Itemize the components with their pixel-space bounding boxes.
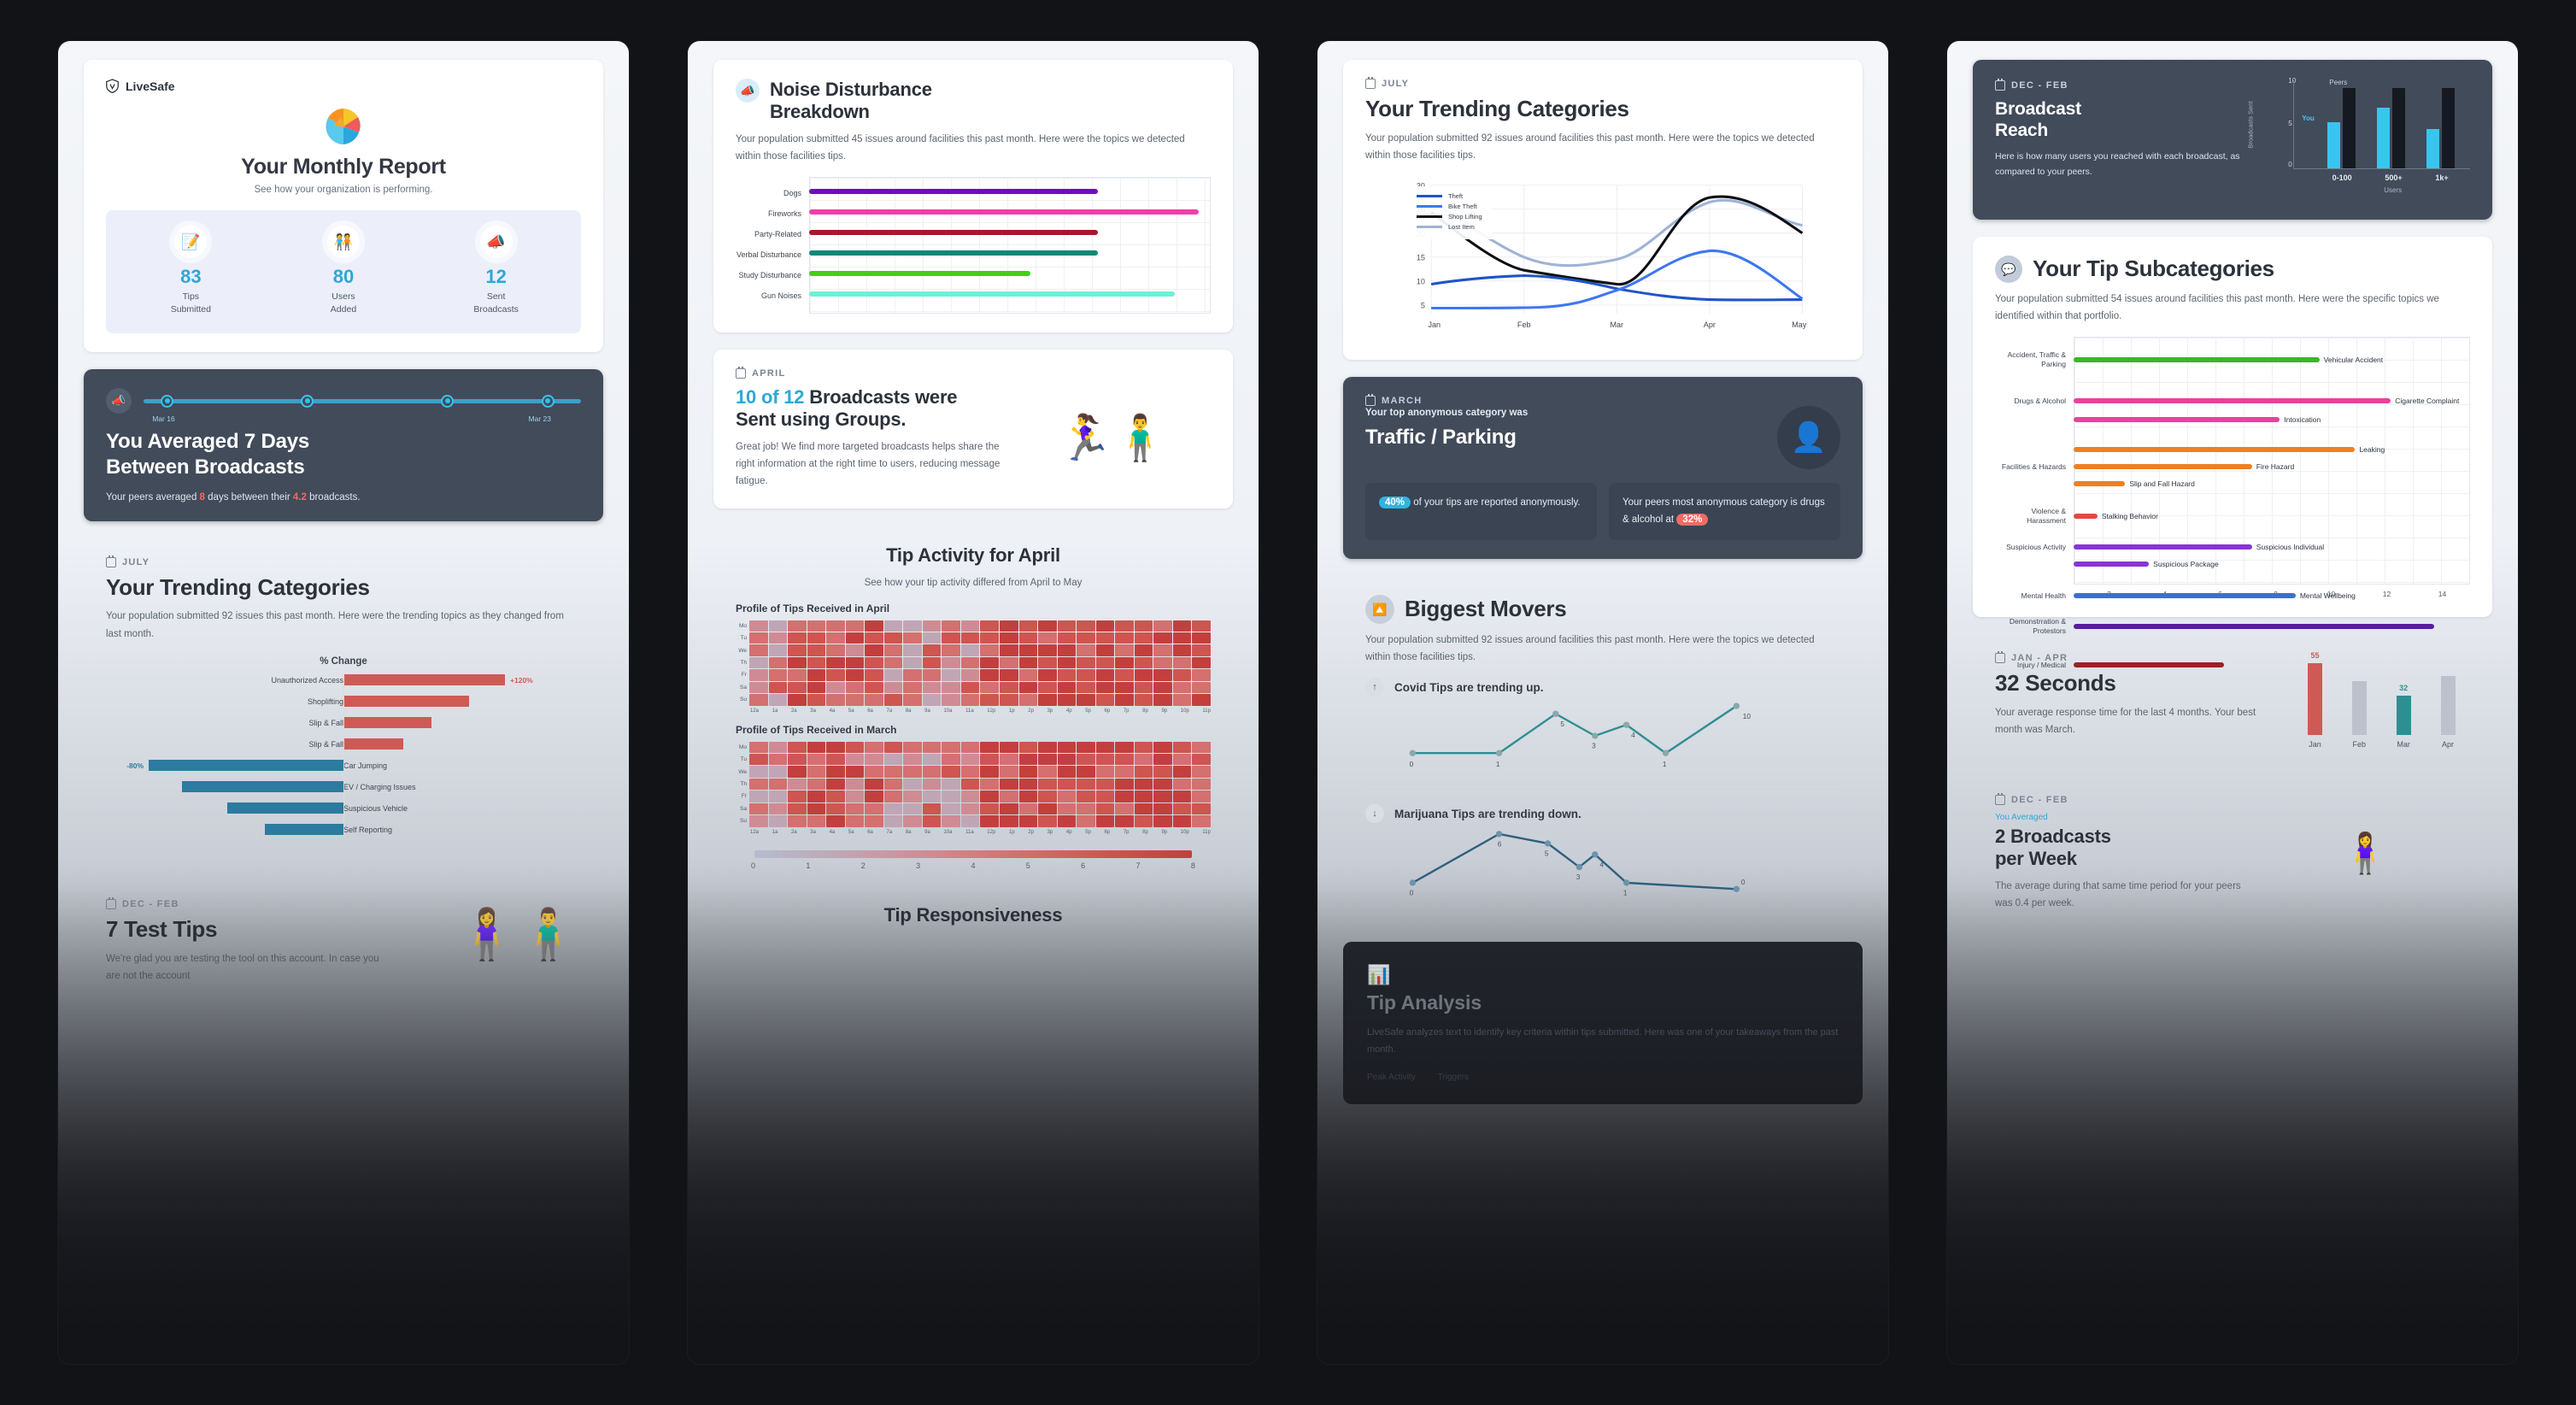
lane-label: Dogs xyxy=(736,189,809,199)
heatmap-cell xyxy=(826,779,845,790)
hour-label: 10p xyxy=(1181,830,1189,835)
bar-label: Slip & Fall xyxy=(308,740,343,749)
heatmap-cell xyxy=(884,803,903,814)
hour-label: 12a xyxy=(750,830,759,835)
trending-title: Your Trending Categories xyxy=(106,575,581,601)
calendar-icon xyxy=(736,368,746,379)
point-label: 0 xyxy=(1410,890,1414,897)
heatmap-cell xyxy=(769,754,788,765)
bar-label: Slip & Fall xyxy=(308,719,343,727)
subcategories-chart: Accident, Traffic & Parking Vehicular Ac… xyxy=(1995,337,2470,585)
heatmap-cell xyxy=(865,644,883,655)
trending-description: Your population submitted 92 issues arou… xyxy=(1365,130,1840,164)
heatmap-cell xyxy=(1153,754,1172,765)
groups-highlight: 10 of 12 xyxy=(736,386,804,408)
heatmap-cell xyxy=(769,766,788,777)
heatmap-cell xyxy=(1153,620,1172,632)
heatmap-cell xyxy=(884,694,903,705)
mover-up-label: Covid Tips are trending up. xyxy=(1394,681,1544,694)
heatmap-cell xyxy=(884,766,903,777)
heatmap-cell xyxy=(846,644,865,655)
hour-label: 7p xyxy=(1124,708,1130,714)
heatmap-cell xyxy=(788,791,807,802)
scale-tick: 8 xyxy=(1191,861,1195,870)
heatmap-cell xyxy=(769,694,788,705)
point-label: 3 xyxy=(1576,874,1581,882)
weekly-description: The average during that same time period… xyxy=(1995,878,2251,912)
heatmap-cell xyxy=(903,657,922,668)
group-label: Violence & Harassment xyxy=(1995,507,2074,526)
heatmap-cell xyxy=(788,754,807,765)
heatmap-cell xyxy=(826,620,845,632)
heatmap-cell xyxy=(1192,644,1211,655)
heatmap-cell xyxy=(1096,657,1115,668)
scale-tick: 3 xyxy=(916,861,920,870)
legend-label: Theft xyxy=(1448,192,1463,200)
heatmap-cell xyxy=(1058,779,1077,790)
heatmap-cell xyxy=(1000,742,1018,753)
point-label: 5 xyxy=(1560,720,1564,728)
heatmap-cell xyxy=(961,644,980,655)
heatmap-cell xyxy=(1192,766,1211,777)
heatmap-cell xyxy=(1038,803,1057,814)
heatmap-cell xyxy=(769,779,788,790)
heatmap-cell xyxy=(961,791,980,802)
heatmap-cell xyxy=(1153,803,1172,814)
bar-label: EV / Charging Issues xyxy=(343,783,416,791)
lane-label: Fireworks xyxy=(736,209,809,220)
legend-label: Lost Item xyxy=(1448,223,1475,231)
heatmap-cell xyxy=(826,791,845,802)
heatmap-cell xyxy=(1096,815,1115,826)
stat-label-1: Tips xyxy=(115,291,267,303)
heatmap-cell xyxy=(807,694,826,705)
heatmap-cell xyxy=(788,742,807,753)
heatmap-cell xyxy=(769,644,788,655)
report-column-2: 📣 Noise Disturbance Breakdown Your popul… xyxy=(688,41,1259,1364)
groups-headline-rest: Broadcasts were xyxy=(804,386,957,408)
heatmap-cell xyxy=(1173,682,1192,693)
heatmap-cell xyxy=(1038,742,1057,753)
heatmap-cell xyxy=(942,815,960,826)
hour-label: 10a xyxy=(943,708,952,714)
bar-label: Unauthorized Access xyxy=(271,676,343,685)
heatmap-cell xyxy=(749,791,768,802)
heatmap-cell xyxy=(807,803,826,814)
heatmap-cell xyxy=(980,815,999,826)
hour-label: 7a xyxy=(887,830,893,835)
hour-label: 2a xyxy=(791,830,797,835)
heatmap-cell xyxy=(788,682,807,693)
heatmap-cell xyxy=(1115,682,1134,693)
heatmap-cell xyxy=(1153,779,1172,790)
weekly-broadcast-card: DEC - FEB You Averaged 2 Broadcasts per … xyxy=(1973,776,2492,931)
heatmap-cell xyxy=(980,791,999,802)
heatmap-cell xyxy=(1058,620,1077,632)
heatmap-cell xyxy=(807,644,826,655)
svg-text:Apr: Apr xyxy=(1704,320,1716,329)
heatmap-cell xyxy=(1096,694,1115,705)
heatmap-cell xyxy=(846,803,865,814)
heatmap-cell xyxy=(903,694,922,705)
heatmap-cell xyxy=(1077,682,1095,693)
noise-breakdown-card: 📣 Noise Disturbance Breakdown Your popul… xyxy=(713,60,1233,332)
hour-label: 10a xyxy=(943,830,952,835)
broadcast-headline-1: You Averaged 7 Days xyxy=(106,430,309,453)
broadcast-reach-chart xyxy=(2293,80,2470,169)
xcat-label: 1k+ xyxy=(2435,173,2448,182)
updown-arrows-icon: 🔼 xyxy=(1365,595,1394,624)
heatmap-cell xyxy=(1038,791,1057,802)
heatmap-cell xyxy=(749,766,768,777)
heatmap-cell xyxy=(769,791,788,802)
heatmap-cell xyxy=(1000,791,1018,802)
reach-title-1: Broadcast xyxy=(1995,99,2081,119)
heatmap-cell xyxy=(903,632,922,644)
heatmap-color-scale xyxy=(754,850,1192,858)
heatmap-scale-ticks: 012345678 xyxy=(736,861,1211,870)
heatmap-cell xyxy=(807,682,826,693)
heatmap-cell xyxy=(884,754,903,765)
heatmap-cell xyxy=(1077,779,1095,790)
heatmap-cell xyxy=(769,742,788,753)
anonymous-category-card: MARCH Your top anonymous category was Tr… xyxy=(1343,377,1863,559)
people-phone-illustration: 🧍‍♀️🧍‍♂️ xyxy=(456,906,579,964)
hour-label: 5a xyxy=(848,708,854,714)
heatmap-cell xyxy=(923,779,942,790)
heatmap-day-labels: MoTu WeTh FrSa Su xyxy=(736,620,749,706)
group-label: Accident, Traffic & Parking xyxy=(1995,350,2074,370)
trending-eyebrow: JULY xyxy=(1382,79,1409,89)
stat-label-2: Added xyxy=(268,303,420,316)
heatmap-cell xyxy=(1058,742,1077,753)
heatmap-cell xyxy=(1019,632,1038,644)
scale-tick: 6 xyxy=(1081,861,1085,870)
heatmap-cell xyxy=(1173,742,1192,753)
subcats-description: Your population submitted 54 issues arou… xyxy=(1995,291,2470,325)
group-label: Suspicious Activity xyxy=(1995,543,2074,552)
heatmap-cell xyxy=(1038,669,1057,680)
heatmap-cell xyxy=(923,632,942,644)
heatmap-cell xyxy=(826,803,845,814)
analysis-title: Tip Analysis xyxy=(1367,991,1839,1014)
heatmap-cell xyxy=(1096,669,1115,680)
heatmap-cell xyxy=(980,742,999,753)
heatmap-cell xyxy=(1192,742,1211,753)
hour-label: 7a xyxy=(887,708,893,714)
heatmap-cell xyxy=(1038,766,1057,777)
bar-month: Feb xyxy=(2353,740,2367,749)
hour-label: 8p xyxy=(1142,708,1148,714)
megaphone-icon: 📣 xyxy=(480,226,513,258)
heatmap-cell xyxy=(961,742,980,753)
movers-title: Biggest Movers xyxy=(1405,597,1566,622)
chart-icon: 📊 xyxy=(1367,964,1839,986)
heatmap-cell xyxy=(1038,620,1057,632)
heatmap-cell xyxy=(1173,644,1192,655)
bar-value: 32 xyxy=(2399,684,2408,692)
heatmap-march-title: Profile of Tips Received in March xyxy=(736,724,1211,736)
heatmap-cell xyxy=(807,669,826,680)
response-title: 32 Seconds xyxy=(1995,671,2285,697)
heatmap-cell xyxy=(1096,632,1115,644)
groups-broadcast-card: APRIL 10 of 12 Broadcasts were Sent usin… xyxy=(713,350,1233,509)
heatmap-cell xyxy=(1077,657,1095,668)
heatmap-cell xyxy=(1038,682,1057,693)
heatmap-cell xyxy=(769,669,788,680)
test-tips-description: We're glad you are testing the tool on t… xyxy=(106,950,388,985)
trending-categories-card: JULY Your Trending Categories Your popul… xyxy=(84,538,603,863)
heatmap-cell xyxy=(769,620,788,632)
stat-label-2: Submitted xyxy=(115,303,267,316)
hour-label: 11p xyxy=(1202,830,1211,835)
trending-eyebrow: JULY xyxy=(122,557,150,567)
hour-label: 4p xyxy=(1066,708,1072,714)
heatmap-cell xyxy=(1153,694,1172,705)
heatmap-cell xyxy=(923,791,942,802)
heatmap-cell xyxy=(942,742,960,753)
mover-down-label: Marijuana Tips are trending down. xyxy=(1394,808,1581,820)
heatmap-cell xyxy=(1135,669,1153,680)
heatmap-cell xyxy=(826,657,845,668)
anon-stat-badge: 40% xyxy=(1379,497,1411,509)
percent-change-chart: Unauthorized Access +120% Shoplifting Sl… xyxy=(106,673,581,837)
heatmap-cell xyxy=(903,803,922,814)
test-tips-eyebrow: DEC - FEB xyxy=(122,899,179,909)
test-tips-card: DEC - FEB 7 Test Tips We're glad you are… xyxy=(84,880,603,1003)
heatmap-cell xyxy=(1096,803,1115,814)
anonymous-user-icon: 👤 xyxy=(1777,406,1840,469)
heatmap-cell xyxy=(769,803,788,814)
svg-text:May: May xyxy=(1792,320,1807,329)
heatmap-cell xyxy=(1115,766,1134,777)
heatmap-cell xyxy=(807,791,826,802)
reach-title-2: Reach xyxy=(1995,121,2048,140)
hour-label: 8a xyxy=(906,830,912,835)
calendar-icon xyxy=(1995,795,2005,805)
response-description: Your average response time for the last … xyxy=(1995,704,2285,738)
heatmap-cell xyxy=(1000,766,1018,777)
heatmap-cell xyxy=(1077,694,1095,705)
bar-month: Mar xyxy=(2397,740,2410,749)
ytick-5: 5 xyxy=(2288,120,2291,127)
heatmap-cell xyxy=(1115,669,1134,680)
tip-subcategories-card: 💬 Your Tip Subcategories Your population… xyxy=(1973,237,2492,617)
calendar-icon xyxy=(1995,653,2005,663)
point-label: 0 xyxy=(1741,879,1746,886)
heatmap-cell xyxy=(846,632,865,644)
hour-label: 6a xyxy=(867,708,873,714)
heatmap-cell xyxy=(980,803,999,814)
heatmap-cell xyxy=(942,694,960,705)
heatmap-cell xyxy=(1153,682,1172,693)
calendar-icon xyxy=(106,557,116,567)
heatmap-cell xyxy=(807,815,826,826)
heatmap-cell xyxy=(1153,632,1172,644)
broadcast-timeline: Mar 16 Mar 23 xyxy=(144,388,581,414)
heatmap-cell xyxy=(961,620,980,632)
heatmap-cell xyxy=(1135,766,1153,777)
heatmap-cell xyxy=(942,779,960,790)
heatmap-cell xyxy=(1058,682,1077,693)
arrow-up-icon: ↑ xyxy=(1365,678,1384,697)
heatmap-cell xyxy=(749,694,768,705)
scale-tick: 4 xyxy=(971,861,975,870)
lane-label: Verbal Disturbance xyxy=(736,250,809,261)
bar-month: Jan xyxy=(2309,740,2321,749)
covid-sparkline: 0 1 5 3 4 1 10 xyxy=(1365,697,1840,775)
heatmap-cell xyxy=(1077,632,1095,644)
heatmap-cell xyxy=(923,742,942,753)
svg-text:15: 15 xyxy=(1417,254,1425,262)
hour-label: 3p xyxy=(1047,708,1053,714)
heatmap-cell xyxy=(826,754,845,765)
bar-value: 55 xyxy=(2310,651,2319,660)
heatmap-cell xyxy=(903,766,922,777)
hour-label: 4a xyxy=(830,830,836,835)
heatmap-cell xyxy=(865,754,883,765)
heatmap-cell xyxy=(788,803,807,814)
point-label: 10 xyxy=(1743,713,1752,720)
heatmap-cell xyxy=(788,657,807,668)
heatmap-cell xyxy=(865,669,883,680)
scale-tick: 1 xyxy=(806,861,810,870)
heatmap-cell xyxy=(788,632,807,644)
calendar-icon xyxy=(1995,80,2005,91)
marijuana-sparkline: 0 6 5 3 4 1 0 xyxy=(1365,823,1840,902)
heatmap-cell xyxy=(961,694,980,705)
heatmap-cell xyxy=(1135,632,1153,644)
heatmap-cell xyxy=(1135,682,1153,693)
hour-label: 3p xyxy=(1047,830,1053,835)
people-sign-illustration: 🏃‍♀️🧍‍♂️ xyxy=(1015,386,1211,490)
hour-label: 7p xyxy=(1124,830,1130,835)
stats-row: 📝 83 Tips Submitted 🧑‍🤝‍🧑 80 Users Added xyxy=(106,210,581,333)
heatmap-cell xyxy=(1173,815,1192,826)
analysis-chip-2[interactable]: Triggers xyxy=(1438,1073,1469,1082)
heatmap-cell xyxy=(1019,766,1038,777)
noise-title-1: Noise Disturbance xyxy=(770,79,932,100)
note-pencil-icon: 📝 xyxy=(174,226,207,258)
svg-text:10: 10 xyxy=(1417,278,1425,286)
analysis-chip-1[interactable]: Peak Activity xyxy=(1367,1073,1416,1082)
heatmap-cell xyxy=(865,742,883,753)
svg-text:Jan: Jan xyxy=(1428,320,1441,329)
heatmap-cell xyxy=(903,754,922,765)
item-label: Vehicular Accident xyxy=(2324,356,2383,364)
heatmap-cell xyxy=(1077,766,1095,777)
item-label: Cigarette Complaint xyxy=(2395,397,2459,405)
heatmap-cell xyxy=(1135,803,1153,814)
heatmap-cell xyxy=(1135,742,1153,753)
heatmap-cell xyxy=(1000,669,1018,680)
noise-title-2: Breakdown xyxy=(770,101,870,122)
users-icon: 🧑‍🤝‍🧑 xyxy=(327,226,360,258)
heatmap-cell xyxy=(923,620,942,632)
heatmap-hour-labels: 12a1a2a3a4a5a6a7a8a9a10a11a12p1p2p3p4p5p… xyxy=(736,708,1211,714)
heatmap-cell xyxy=(961,803,980,814)
heatmap-cell xyxy=(942,657,960,668)
trending-description: Your population submitted 92 issues this… xyxy=(106,608,581,642)
heatmap-cell xyxy=(1000,682,1018,693)
xcat-label: 500+ xyxy=(2385,173,2402,182)
heatmap-cell xyxy=(1115,815,1134,826)
bar-value-label: -80% xyxy=(126,761,144,770)
heatmap-cell xyxy=(846,815,865,826)
bar-label: Suspicious Vehicle xyxy=(343,804,408,813)
heatmap-cell xyxy=(1019,791,1038,802)
heatmap-cell xyxy=(865,803,883,814)
peer-note-prefix: Your peers averaged xyxy=(106,492,200,503)
heatmap-cell xyxy=(1000,815,1018,826)
report-column-4: DEC - FEB Broadcast Reach Here is how ma… xyxy=(1947,41,2518,1364)
heatmap-cell xyxy=(980,779,999,790)
hour-label: 2p xyxy=(1028,830,1034,835)
heatmap-cell xyxy=(749,644,768,655)
heatmap-cell xyxy=(961,815,980,826)
item-label: Stalking Behavior xyxy=(2102,512,2158,520)
heatmap-cell xyxy=(1096,791,1115,802)
heatmap-cell xyxy=(846,779,865,790)
hour-label: 8a xyxy=(906,708,912,714)
heatmap-cell xyxy=(769,815,788,826)
heatmap-cell xyxy=(884,644,903,655)
heatmap-cell xyxy=(846,682,865,693)
reach-ylabel: Broadcasts Sent xyxy=(2247,101,2255,148)
trending-title: Your Trending Categories xyxy=(1365,97,1840,122)
heatmap-cell xyxy=(1173,620,1192,632)
heatmap-cell xyxy=(826,644,845,655)
trending-lines-card: JULY Your Trending Categories Your popul… xyxy=(1343,60,1863,360)
heatmap-cell xyxy=(884,657,903,668)
movers-description: Your population submitted 92 issues arou… xyxy=(1365,632,1840,666)
hour-label: 9a xyxy=(924,830,930,835)
heatmap-cell xyxy=(1038,632,1057,644)
point-label: 0 xyxy=(1410,761,1414,768)
heatmap-cell xyxy=(980,620,999,632)
heatmap-cell xyxy=(846,694,865,705)
heatmap-cell xyxy=(1058,791,1077,802)
heatmap-cell xyxy=(903,742,922,753)
weekly-title-2: per Week xyxy=(1995,848,2077,869)
heatmap-cell xyxy=(1135,754,1153,765)
point-label: 1 xyxy=(1663,761,1667,768)
heatmap-cell xyxy=(788,669,807,680)
chart-legend: Theft Bike Theft Shop Lifting Lost Item xyxy=(1410,186,1493,239)
heatmap-cell xyxy=(903,779,922,790)
heatmap-cell xyxy=(903,791,922,802)
tip-analysis-card: 📊 Tip Analysis LiveSafe analyzes text to… xyxy=(1343,942,1863,1104)
heatmap-cell xyxy=(826,669,845,680)
response-eyebrow: JAN - APR xyxy=(2011,653,2068,663)
heatmap-cell xyxy=(749,669,768,680)
svg-text:Feb: Feb xyxy=(1517,320,1531,329)
heatmap-cell xyxy=(923,766,942,777)
scale-tick: 7 xyxy=(1136,861,1141,870)
activity-title: Tip Activity for April xyxy=(736,544,1211,567)
heatmap-cell xyxy=(788,620,807,632)
hour-label: 5p xyxy=(1085,830,1091,835)
anon-stat-text: of your tips are reported anonymously. xyxy=(1411,497,1581,508)
broadcast-reach-card: DEC - FEB Broadcast Reach Here is how ma… xyxy=(1973,60,2492,220)
heatmap-cell xyxy=(980,657,999,668)
anon-headline: Traffic / Parking xyxy=(1365,425,1777,450)
heatmap-cell xyxy=(1096,754,1115,765)
hour-label: 1a xyxy=(772,708,778,714)
arrow-down-icon: ↓ xyxy=(1365,804,1384,823)
heatmap-cell xyxy=(1019,779,1038,790)
anon-kicker: Your top anonymous category was xyxy=(1365,408,1840,418)
